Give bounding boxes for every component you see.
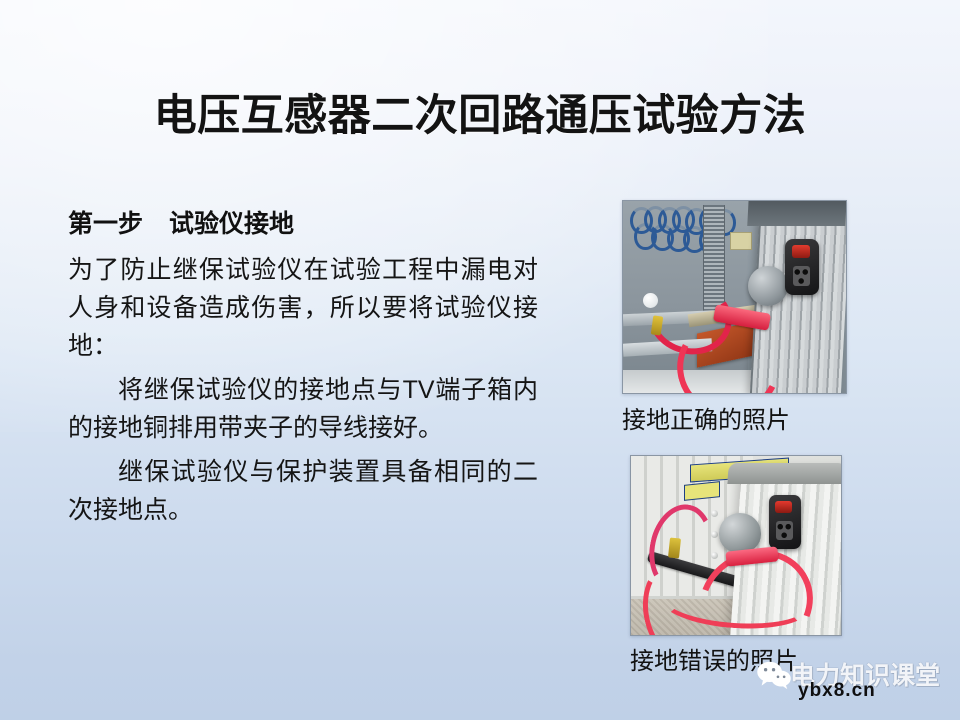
paragraph-1: 为了防止继保试验仪在试验工程中漏电对人身和设备造成伤害，所以要将试验仪接地： bbox=[68, 251, 538, 365]
photo-incorrect-artwork bbox=[631, 456, 841, 635]
body-text-column: 第一步试验仪接地 为了防止继保试验仪在试验工程中漏电对人身和设备造成伤害，所以要… bbox=[68, 208, 538, 531]
power-socket bbox=[769, 495, 801, 549]
watermark-url: ybx8.cn bbox=[798, 680, 876, 702]
terminal-tag bbox=[730, 232, 752, 250]
photo-block-incorrect: 接地错误的照片 bbox=[630, 455, 842, 677]
socket-pin-holes bbox=[776, 521, 793, 540]
photo-caption-correct: 接地正确的照片 bbox=[622, 406, 847, 436]
page-title: 电压互感器二次回路通压试验方法 bbox=[0, 92, 960, 140]
photo-block-correct: 接地正确的照片 bbox=[622, 200, 847, 436]
step-label: 第一步 bbox=[68, 210, 143, 238]
step-title: 试验仪接地 bbox=[169, 210, 294, 238]
paragraph-3: 继保试验仪与保护装置具备相同的二次接地点。 bbox=[68, 453, 538, 529]
socket-indicator-led bbox=[775, 501, 792, 513]
photo-incorrect-grounding bbox=[630, 455, 842, 636]
rotary-knob bbox=[719, 513, 761, 553]
paragraph-2: 将继保试验仪的接地点与TV端子箱内的接地铜排用带夹子的导线接好。 bbox=[68, 371, 538, 447]
yellow-connector bbox=[668, 538, 681, 559]
socket-pin-holes bbox=[793, 266, 810, 286]
socket-indicator-led bbox=[792, 245, 810, 258]
photo-correct-artwork bbox=[623, 201, 846, 393]
power-socket bbox=[785, 239, 819, 295]
test-instrument-top bbox=[747, 200, 847, 226]
photo-correct-grounding bbox=[622, 200, 847, 394]
blue-wire-loops bbox=[627, 205, 743, 247]
test-instrument-top bbox=[727, 463, 842, 484]
warning-label-lower bbox=[684, 481, 720, 501]
step-heading: 第一步试验仪接地 bbox=[68, 208, 538, 242]
presentation-slide: 电压互感器二次回路通压试验方法 第一步试验仪接地 为了防止继保试验仪在试验工程中… bbox=[0, 0, 960, 720]
photo-caption-incorrect: 接地错误的照片 bbox=[630, 647, 842, 677]
